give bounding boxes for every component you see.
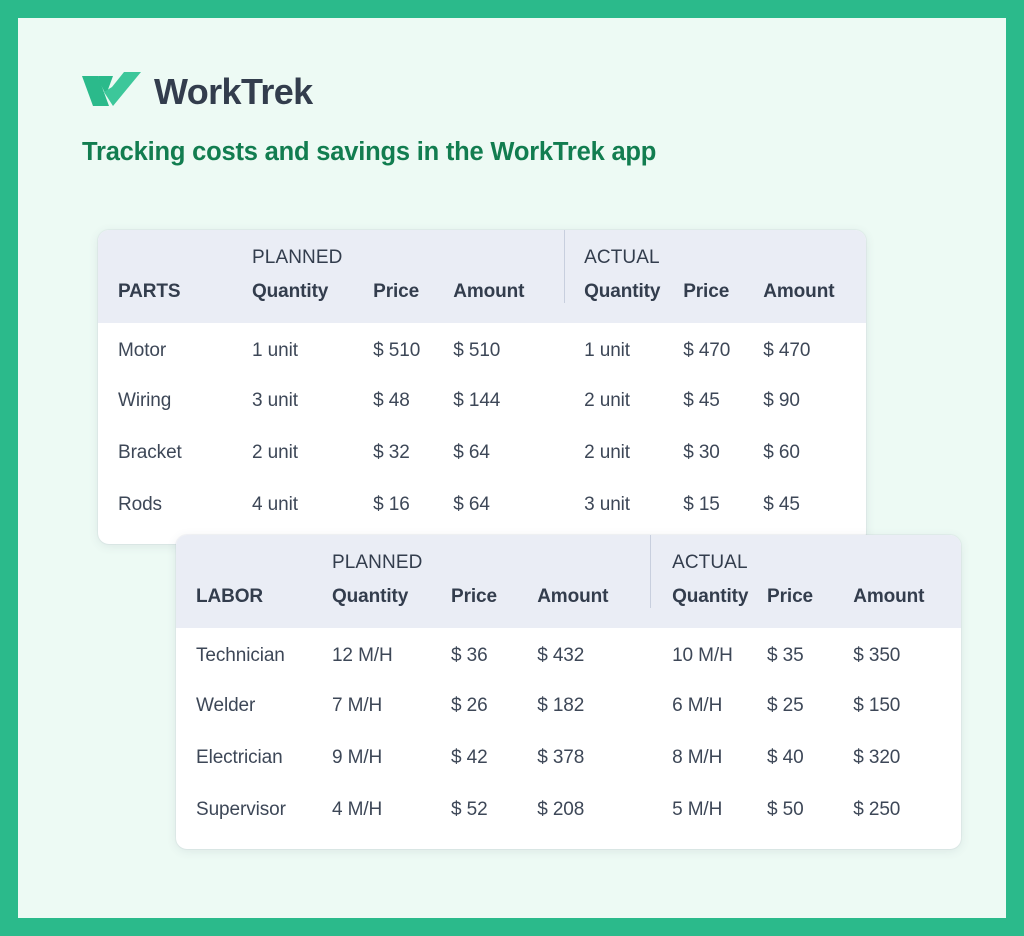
cell-actual-price: $ 30 bbox=[683, 427, 763, 479]
table-row: Electrician 9 M/H $ 42 $ 378 8 M/H $ 40 … bbox=[176, 732, 961, 784]
cell-name: Supervisor bbox=[176, 784, 332, 836]
cell-actual-price: $ 45 bbox=[683, 375, 763, 427]
table-row: Supervisor 4 M/H $ 52 $ 208 5 M/H $ 50 $… bbox=[176, 784, 961, 836]
parts-col-name: PARTS bbox=[98, 276, 252, 323]
parts-table-header: PLANNED ACTUAL PARTS Quantity Price Amou… bbox=[98, 230, 866, 323]
cell-actual-amount: $ 45 bbox=[763, 479, 866, 531]
labor-table-card: PLANNED ACTUAL LABOR Quantity Price Amou… bbox=[176, 535, 961, 849]
labor-table: PLANNED ACTUAL LABOR Quantity Price Amou… bbox=[176, 535, 961, 836]
cell-planned-price: $ 48 bbox=[373, 375, 453, 427]
labor-group-spacer-c bbox=[537, 535, 650, 581]
labor-group-planned: PLANNED bbox=[332, 535, 451, 581]
labor-group-spacer bbox=[176, 535, 332, 581]
cell-actual-amount: $ 320 bbox=[853, 732, 961, 784]
cell-actual-quantity: 5 M/H bbox=[650, 784, 767, 836]
labor-col-planned-quantity: Quantity bbox=[332, 581, 451, 628]
cell-planned-amount: $ 182 bbox=[537, 680, 650, 732]
cell-actual-amount: $ 250 bbox=[853, 784, 961, 836]
cell-actual-quantity: 3 unit bbox=[564, 479, 683, 531]
cell-planned-amount: $ 510 bbox=[453, 323, 564, 375]
parts-group-actual: ACTUAL bbox=[564, 230, 683, 276]
page-frame: WorkTrek Tracking costs and savings in t… bbox=[18, 18, 1006, 918]
labor-col-planned-amount: Amount bbox=[537, 581, 650, 628]
labor-group-spacer-d bbox=[767, 535, 853, 581]
labor-col-name: LABOR bbox=[176, 581, 332, 628]
table-row: Wiring 3 unit $ 48 $ 144 2 unit $ 45 $ 9… bbox=[98, 375, 866, 427]
cell-actual-amount: $ 470 bbox=[763, 323, 866, 375]
cell-planned-amount: $ 64 bbox=[453, 479, 564, 531]
cell-name: Wiring bbox=[98, 375, 252, 427]
cell-actual-amount: $ 350 bbox=[853, 628, 961, 680]
page-subtitle: Tracking costs and savings in the WorkTr… bbox=[82, 138, 656, 167]
cell-planned-quantity: 3 unit bbox=[252, 375, 373, 427]
labor-table-body: Technician 12 M/H $ 36 $ 432 10 M/H $ 35… bbox=[176, 628, 961, 836]
cell-actual-price: $ 35 bbox=[767, 628, 853, 680]
cell-actual-price: $ 15 bbox=[683, 479, 763, 531]
cell-planned-price: $ 510 bbox=[373, 323, 453, 375]
labor-column-header-row: LABOR Quantity Price Amount Quantity Pri… bbox=[176, 581, 961, 628]
table-row: Bracket 2 unit $ 32 $ 64 2 unit $ 30 $ 6… bbox=[98, 427, 866, 479]
cell-planned-amount: $ 208 bbox=[537, 784, 650, 836]
cell-planned-quantity: 9 M/H bbox=[332, 732, 451, 784]
labor-table-header: PLANNED ACTUAL LABOR Quantity Price Amou… bbox=[176, 535, 961, 628]
labor-col-planned-price: Price bbox=[451, 581, 537, 628]
cell-actual-price: $ 470 bbox=[683, 323, 763, 375]
table-row: Rods 4 unit $ 16 $ 64 3 unit $ 15 $ 45 bbox=[98, 479, 866, 531]
cell-planned-quantity: 7 M/H bbox=[332, 680, 451, 732]
parts-table-body: Motor 1 unit $ 510 $ 510 1 unit $ 470 $ … bbox=[98, 323, 866, 531]
cell-planned-quantity: 2 unit bbox=[252, 427, 373, 479]
cell-planned-price: $ 26 bbox=[451, 680, 537, 732]
cell-planned-price: $ 32 bbox=[373, 427, 453, 479]
table-row: Technician 12 M/H $ 36 $ 432 10 M/H $ 35… bbox=[176, 628, 961, 680]
table-row: Motor 1 unit $ 510 $ 510 1 unit $ 470 $ … bbox=[98, 323, 866, 375]
cell-planned-quantity: 4 M/H bbox=[332, 784, 451, 836]
cell-planned-amount: $ 144 bbox=[453, 375, 564, 427]
parts-group-spacer-b bbox=[373, 230, 453, 276]
parts-column-header-row: PARTS Quantity Price Amount Quantity Pri… bbox=[98, 276, 866, 323]
cell-actual-amount: $ 150 bbox=[853, 680, 961, 732]
parts-group-planned: PLANNED bbox=[252, 230, 373, 276]
table-row: Welder 7 M/H $ 26 $ 182 6 M/H $ 25 $ 150 bbox=[176, 680, 961, 732]
parts-group-spacer bbox=[98, 230, 252, 276]
cell-planned-quantity: 12 M/H bbox=[332, 628, 451, 680]
cell-name: Technician bbox=[176, 628, 332, 680]
labor-group-spacer-e bbox=[853, 535, 961, 581]
cell-actual-price: $ 25 bbox=[767, 680, 853, 732]
cell-actual-quantity: 1 unit bbox=[564, 323, 683, 375]
cell-actual-amount: $ 90 bbox=[763, 375, 866, 427]
cell-actual-price: $ 40 bbox=[767, 732, 853, 784]
labor-col-actual-price: Price bbox=[767, 581, 853, 628]
cell-planned-price: $ 52 bbox=[451, 784, 537, 836]
labor-col-actual-quantity: Quantity bbox=[650, 581, 767, 628]
cell-actual-quantity: 2 unit bbox=[564, 375, 683, 427]
cell-actual-price: $ 50 bbox=[767, 784, 853, 836]
brand-header: WorkTrek bbox=[82, 72, 313, 112]
labor-group-header-row: PLANNED ACTUAL bbox=[176, 535, 961, 581]
cell-actual-quantity: 8 M/H bbox=[650, 732, 767, 784]
labor-col-actual-amount: Amount bbox=[853, 581, 961, 628]
parts-col-planned-amount: Amount bbox=[453, 276, 564, 323]
worktrek-logo-icon bbox=[82, 72, 141, 112]
parts-col-actual-price: Price bbox=[683, 276, 763, 323]
parts-group-spacer-e bbox=[763, 230, 866, 276]
cell-name: Bracket bbox=[98, 427, 252, 479]
cell-planned-price: $ 42 bbox=[451, 732, 537, 784]
parts-col-planned-quantity: Quantity bbox=[252, 276, 373, 323]
parts-group-header-row: PLANNED ACTUAL bbox=[98, 230, 866, 276]
parts-group-spacer-d bbox=[683, 230, 763, 276]
brand-name: WorkTrek bbox=[154, 74, 313, 110]
parts-table-card: PLANNED ACTUAL PARTS Quantity Price Amou… bbox=[98, 230, 866, 544]
cell-name: Electrician bbox=[176, 732, 332, 784]
cell-planned-amount: $ 378 bbox=[537, 732, 650, 784]
cell-actual-quantity: 6 M/H bbox=[650, 680, 767, 732]
cell-planned-price: $ 16 bbox=[373, 479, 453, 531]
parts-table: PLANNED ACTUAL PARTS Quantity Price Amou… bbox=[98, 230, 866, 531]
parts-col-actual-amount: Amount bbox=[763, 276, 866, 323]
cell-name: Welder bbox=[176, 680, 332, 732]
cell-planned-price: $ 36 bbox=[451, 628, 537, 680]
cell-actual-quantity: 10 M/H bbox=[650, 628, 767, 680]
labor-group-actual: ACTUAL bbox=[650, 535, 767, 581]
labor-group-spacer-b bbox=[451, 535, 537, 581]
parts-col-actual-quantity: Quantity bbox=[564, 276, 683, 323]
cell-planned-quantity: 4 unit bbox=[252, 479, 373, 531]
parts-col-planned-price: Price bbox=[373, 276, 453, 323]
cell-planned-quantity: 1 unit bbox=[252, 323, 373, 375]
cell-planned-amount: $ 64 bbox=[453, 427, 564, 479]
parts-group-spacer-c bbox=[453, 230, 564, 276]
cell-name: Motor bbox=[98, 323, 252, 375]
cell-actual-quantity: 2 unit bbox=[564, 427, 683, 479]
cell-actual-amount: $ 60 bbox=[763, 427, 866, 479]
cell-planned-amount: $ 432 bbox=[537, 628, 650, 680]
cell-name: Rods bbox=[98, 479, 252, 531]
